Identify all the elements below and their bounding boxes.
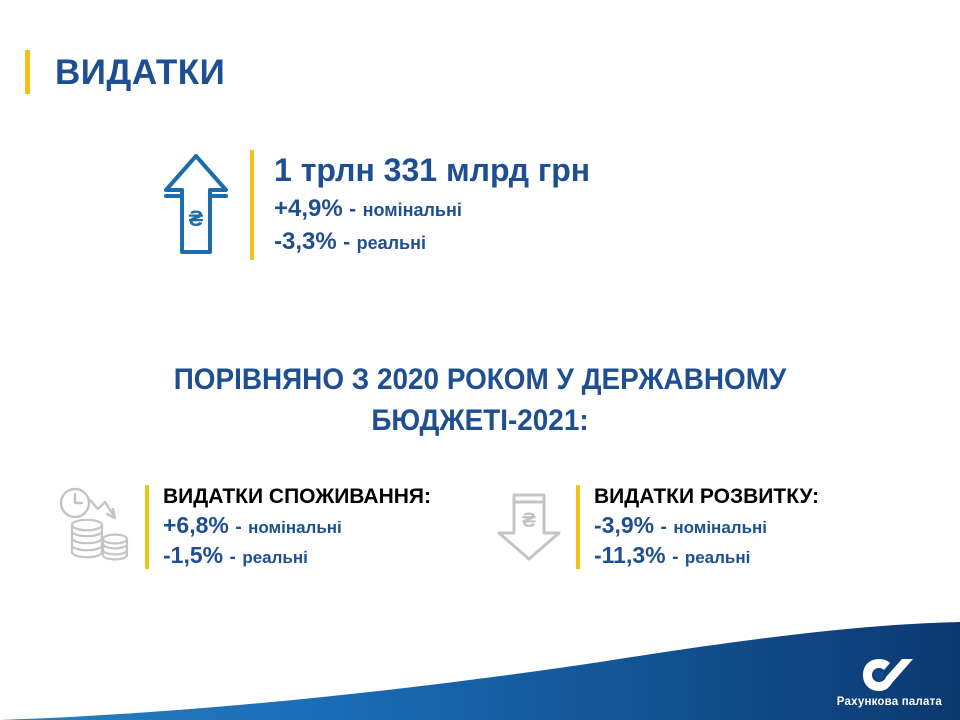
consumption-nominal-pct: +6,8% [163,512,229,538]
main-stat-block: ₴ 1 трлн 331 млрд грн +4,9% - номінальні… [160,150,590,260]
main-stat-line-real: -3,3% - реальні [274,229,590,255]
consumption-real-pct: -1,5% [163,542,223,568]
slide-canvas: ВИДАТКИ ₴ 1 трлн 331 млрд грн +4,9% - но… [0,0,960,720]
organization-logo: Рахункова палата [837,655,942,708]
development-real-label: реальні [685,548,751,567]
main-stat-divider [250,150,254,260]
consumption-nominal-label: номінальні [248,518,342,537]
comparison-heading: ПОРІВНЯНО З 2020 РОКОМ У ДЕРЖАВНОМУ БЮДЖ… [34,360,927,441]
main-stat-text: 1 трлн 331 млрд грн +4,9% - номінальні -… [274,150,590,256]
main-stat-nominal-pct: +4,9% [274,195,343,222]
up-arrow-hryvnia-icon: ₴ [160,150,232,260]
development-nominal-dash: - [659,517,669,538]
main-stat-real-pct: -3,3% [274,228,337,255]
comparison-heading-line1: ПОРІВНЯНО З 2020 РОКОМ У ДЕРЖАВНОМУ [34,360,927,401]
development-divider [576,485,580,569]
development-nominal-label: номінальні [673,518,767,537]
page-title: ВИДАТКИ [55,55,225,90]
consumption-title: ВИДАТКИ СПОЖИВАННЯ: [163,485,431,509]
consumption-real-dash: - [228,547,238,568]
main-stat-value: 1 трлн 331 млрд грн [274,152,590,189]
consumption-text: ВИДАТКИ СПОЖИВАННЯ: +6,8% - номінальні -… [163,485,431,569]
development-real-dash: - [670,547,680,568]
main-stat-line-nominal: +4,9% - номінальні [274,196,590,222]
comparison-heading-line2: БЮДЖЕТІ-2021: [34,401,927,442]
consumption-nominal-dash: - [233,517,243,538]
consumption-divider [145,485,149,569]
main-stat-real-label: реальні [357,233,426,253]
svg-text:₴: ₴ [522,509,536,532]
main-stat-nominal-label: номінальні [363,200,462,220]
development-text: ВИДАТКИ РОЗВИТКУ: -3,9% - номінальні -11… [594,485,819,569]
main-stat-nominal-dash: - [347,198,358,221]
title-accent-bar [25,50,30,94]
consumption-expenses-block: ВИДАТКИ СПОЖИВАННЯ: +6,8% - номінальні -… [55,485,431,569]
consumption-real-label: реальні [242,548,308,567]
svg-text:₴: ₴ [189,206,204,231]
development-real-pct: -11,3% [594,542,666,568]
down-arrow-hryvnia-icon: ₴ [492,485,566,565]
development-expenses-block: ₴ ВИДАТКИ РОЗВИТКУ: -3,9% - номінальні -… [492,485,819,569]
consumption-line-nominal: +6,8% - номінальні [163,513,431,539]
main-stat-real-dash: - [341,231,352,254]
rakhunkova-palata-logo-icon [861,655,917,695]
footer-wave-decoration [0,610,960,720]
development-line-real: -11,3% - реальні [594,543,819,569]
clock-coins-declining-icon [55,485,135,565]
slide-title-row: ВИДАТКИ [25,50,225,94]
development-title: ВИДАТКИ РОЗВИТКУ: [594,485,819,509]
consumption-line-real: -1,5% - реальні [163,543,431,569]
development-line-nominal: -3,9% - номінальні [594,513,819,539]
organization-logo-text: Рахункова палата [837,696,942,708]
development-nominal-pct: -3,9% [594,512,654,538]
